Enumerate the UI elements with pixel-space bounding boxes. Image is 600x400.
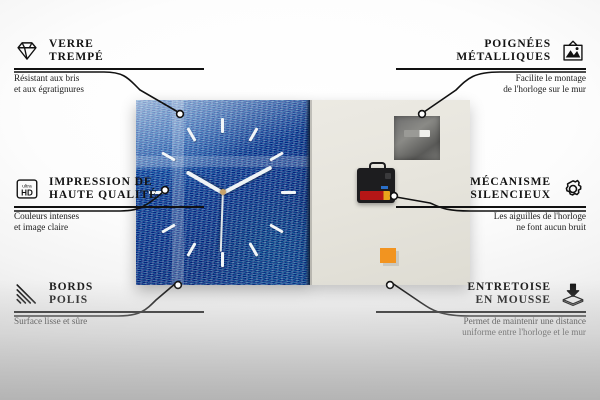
feature-desc: Couleurs intenses et image claire <box>14 211 204 233</box>
feature-poignees-metalliques: POIGNÉES MÉTALLIQUES Facilite le montage… <box>396 38 586 95</box>
hanger-slot <box>404 130 430 137</box>
feature-entretoise-en-mousse: ENTRETOISE EN MOUSSE Permet de maintenir… <box>376 281 586 338</box>
clock-tick <box>281 191 296 194</box>
feature-rule <box>396 68 586 70</box>
feature-desc: Facilite le montage de l'horloge sur le … <box>396 73 586 95</box>
clock-mechanism <box>357 168 395 203</box>
feature-rule <box>376 311 586 313</box>
feature-mecanisme-silencieux: MÉCANISME SILENCIEUX Les aiguilles de l'… <box>396 176 586 233</box>
diamond-icon <box>14 39 40 63</box>
feature-title: BORDS POLIS <box>49 281 93 307</box>
foam-spacer-icon <box>560 282 586 306</box>
feature-rule <box>14 311 204 313</box>
feature-rule <box>14 206 204 208</box>
feature-header: ultra HD IMPRESSION DE HAUTE QUALITÉ <box>14 176 204 202</box>
clock-tick <box>221 118 224 133</box>
metal-hanger-plate <box>394 116 440 160</box>
feature-desc: Permet de maintenir une distance uniform… <box>376 316 586 338</box>
ultra-hd-icon: ultra HD <box>14 177 40 201</box>
feature-rule <box>14 68 204 70</box>
svg-text:HD: HD <box>21 189 33 198</box>
panel-seam <box>310 100 312 285</box>
feature-header: ENTRETOISE EN MOUSSE <box>376 281 586 307</box>
feature-header: BORDS POLIS <box>14 281 204 307</box>
feature-title: IMPRESSION DE HAUTE QUALITÉ <box>49 176 158 202</box>
feature-title: VERRE TREMPÉ <box>49 38 104 64</box>
feature-header: VERRE TREMPÉ <box>14 38 204 64</box>
glass-glare <box>136 100 310 170</box>
feature-desc: Résistant aux bris et aux égratignures <box>14 73 204 95</box>
feature-rule <box>396 206 586 208</box>
mechanism-knob <box>385 173 391 179</box>
clock-tick <box>221 252 224 267</box>
feature-header: MÉCANISME SILENCIEUX <box>396 176 586 202</box>
feature-impression-haute-qualite: ultra HD IMPRESSION DE HAUTE QUALITÉ Cou… <box>14 176 204 233</box>
mechanism-label <box>381 186 388 189</box>
mechanism-hook <box>369 162 386 172</box>
clock-hand-hub <box>220 189 226 195</box>
polished-edge-icon <box>14 282 40 306</box>
battery <box>360 191 390 200</box>
feature-desc: Surface lisse et sûre <box>14 316 204 327</box>
infographic-canvas: VERRE TREMPÉ Résistant aux bris et aux é… <box>0 0 600 400</box>
picture-hanger-icon <box>560 39 586 63</box>
feature-desc: Les aiguilles de l'horloge ne font aucun… <box>396 211 586 233</box>
feature-verre-trempe: VERRE TREMPÉ Résistant aux bris et aux é… <box>14 38 204 95</box>
foam-spacer <box>380 248 396 263</box>
feature-title: POIGNÉES MÉTALLIQUES <box>456 38 551 64</box>
feature-title: MÉCANISME SILENCIEUX <box>470 176 551 202</box>
gear-icon <box>560 177 586 201</box>
feature-header: POIGNÉES MÉTALLIQUES <box>396 38 586 64</box>
feature-bords-polis: BORDS POLIS Surface lisse et sûre <box>14 281 204 327</box>
feature-title: ENTRETOISE EN MOUSSE <box>467 281 551 307</box>
